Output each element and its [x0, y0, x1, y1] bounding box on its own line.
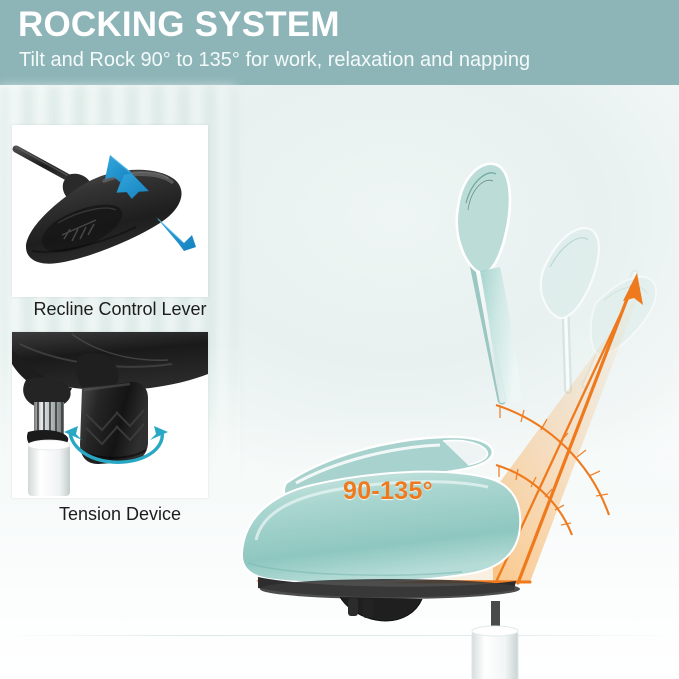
- feature-card-tension-device: [12, 332, 208, 498]
- header-banner: ROCKING SYSTEM Tilt and Rock 90° to 135°…: [0, 0, 679, 85]
- recline-angle-label: 90-135°: [343, 477, 433, 506]
- feature-card-recline-lever: [12, 125, 208, 297]
- recline-lever-art: [12, 125, 208, 297]
- caption-recline-lever: Recline Control Lever: [10, 299, 230, 320]
- caption-tension-device: Tension Device: [10, 504, 230, 525]
- chair-illustration: [200, 85, 679, 679]
- tension-device-photo: [12, 332, 208, 498]
- backrest-main-position-1: [457, 164, 522, 403]
- page-title: ROCKING SYSTEM: [18, 5, 340, 45]
- infographic-page: ROCKING SYSTEM Tilt and Rock 90° to 135°…: [0, 0, 679, 679]
- seat-mechanism-plate: [258, 577, 520, 621]
- gas-lift-cylinder: [472, 601, 518, 679]
- page-subtitle: Tilt and Rock 90° to 135° for work, rela…: [19, 47, 530, 73]
- recline-lever-photo: [12, 125, 208, 297]
- tension-device-art: [12, 332, 208, 498]
- chair-svg: [200, 85, 679, 679]
